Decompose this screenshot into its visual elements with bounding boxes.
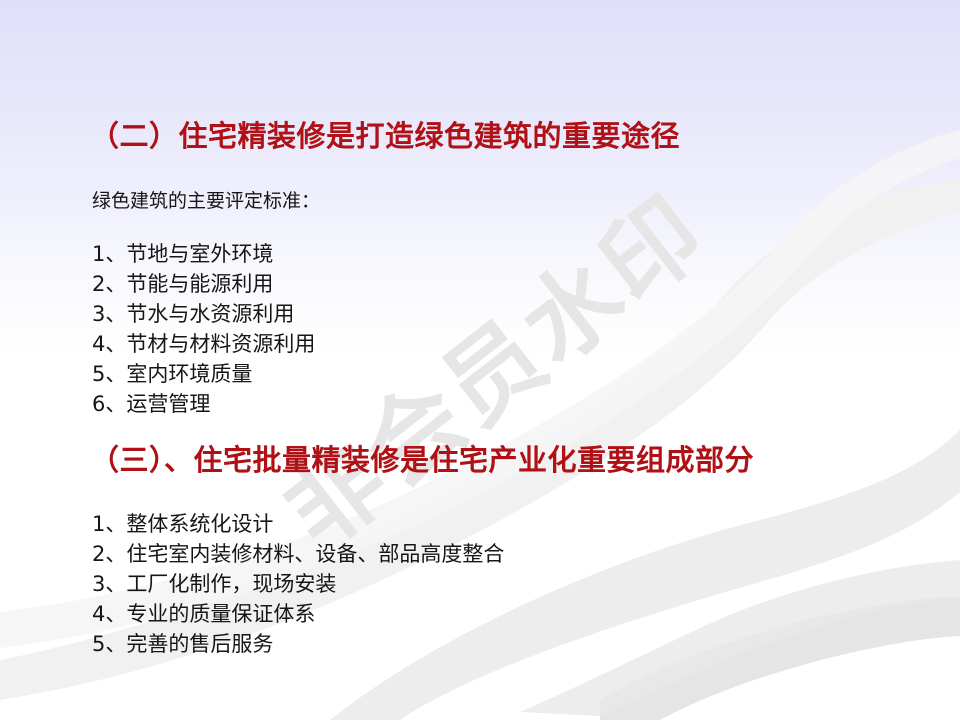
list-item: 3、节水与水资源利用 <box>92 299 315 329</box>
list-item: 1、节地与室外环境 <box>92 239 315 269</box>
section-one-heading: （二）住宅精装修是打造绿色建筑的重要途径 <box>90 113 680 155</box>
slide-content: （二）住宅精装修是打造绿色建筑的重要途径 绿色建筑的主要评定标准： 1、节地与室… <box>0 0 960 720</box>
section-one-list: 1、节地与室外环境 2、节能与能源利用 3、节水与水资源利用 4、节材与材料资源… <box>92 239 315 419</box>
list-item: 4、专业的质量保证体系 <box>92 599 504 629</box>
list-item: 6、运营管理 <box>92 389 315 419</box>
section-one-subtitle: 绿色建筑的主要评定标准： <box>92 186 320 213</box>
list-item: 1、整体系统化设计 <box>92 509 504 539</box>
list-item: 3、工厂化制作，现场安装 <box>92 569 504 599</box>
list-item: 2、住宅室内装修材料、设备、部品高度整合 <box>92 539 504 569</box>
list-item: 5、完善的售后服务 <box>92 629 504 659</box>
list-item: 5、室内环境质量 <box>92 359 315 389</box>
list-item: 4、节材与材料资源利用 <box>92 329 315 359</box>
section-two-heading: （三）、住宅批量精装修是住宅产业化重要组成部分 <box>90 437 754 479</box>
presentation-slide: 非会员水印 （二）住宅精装修是打造绿色建筑的重要途径 绿色建筑的主要评定标准： … <box>0 0 960 720</box>
list-item: 2、节能与能源利用 <box>92 269 315 299</box>
section-two-list: 1、整体系统化设计 2、住宅室内装修材料、设备、部品高度整合 3、工厂化制作，现… <box>92 509 504 659</box>
